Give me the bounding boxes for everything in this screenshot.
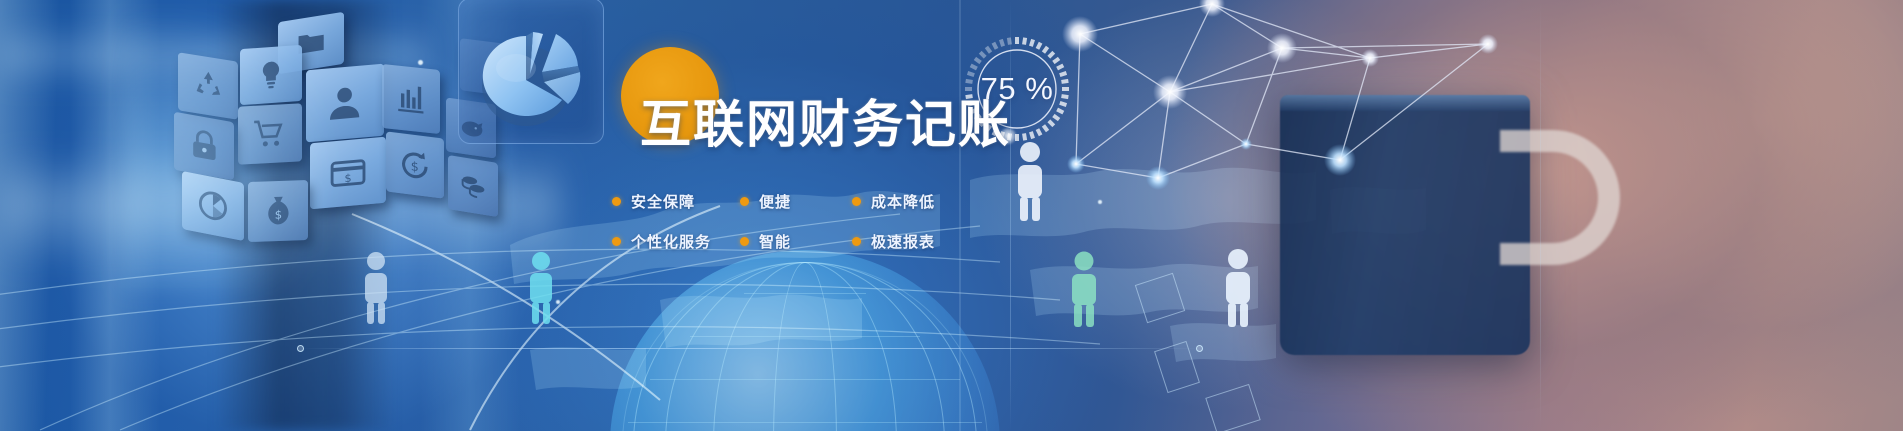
mug-handle (1500, 130, 1620, 265)
shopping-cart-icon (238, 103, 302, 164)
vertical-divider (1540, 0, 1541, 431)
bar-chart-icon (382, 64, 440, 134)
person-icon (306, 64, 384, 143)
bullet-dot-icon (612, 237, 621, 246)
feature-item-cost-reduction: 成本降低 (852, 191, 935, 212)
vertical-divider (1010, 0, 1011, 431)
feature-item-personalized-service: 个性化服务 (612, 231, 740, 252)
lightbulb-icon (240, 45, 302, 105)
coins-icon (448, 155, 498, 217)
feature-item-intelligent: 智能 (740, 231, 852, 252)
bullet-dot-icon (740, 237, 749, 246)
feature-label: 安全保障 (631, 191, 695, 212)
svg-text:$: $ (274, 207, 281, 221)
bullet-dot-icon (852, 237, 861, 246)
feature-label: 便捷 (759, 191, 791, 212)
feature-row-2: 个性化服务 智能 极速报表 (612, 221, 1002, 261)
refresh-dollar-icon: $ (386, 131, 444, 198)
bullet-dot-icon (612, 197, 621, 206)
bullet-dot-icon (740, 197, 749, 206)
feature-item-security: 安全保障 (612, 191, 740, 212)
svg-text:$: $ (344, 171, 351, 185)
pie-chart-graphic (470, 8, 598, 136)
svg-text:$: $ (411, 158, 419, 174)
person-silhouette (1010, 140, 1050, 222)
network-node-graph (1040, 0, 1510, 202)
feature-label: 极速报表 (871, 231, 935, 252)
marketing-banner: $ $ $ (0, 0, 1903, 431)
divider-node-icon (297, 345, 304, 352)
feature-label: 个性化服务 (631, 231, 711, 252)
feature-label: 成本降低 (871, 191, 935, 212)
person-silhouette (523, 250, 559, 325)
bullet-dot-icon (852, 197, 861, 206)
sparkle-icon (1098, 200, 1102, 204)
feature-item-fast-reports: 极速报表 (852, 231, 935, 252)
feature-row-1: 安全保障 便捷 成本降低 (612, 181, 1002, 221)
money-bag-icon: $ (248, 180, 308, 242)
person-silhouette (1218, 248, 1258, 328)
recycle-icon (178, 52, 238, 120)
sparkle-icon (418, 60, 423, 65)
pie-chart-icon (182, 171, 244, 241)
page-title: 互联网财务记账 (640, 100, 1011, 151)
sparkle-icon (556, 300, 560, 304)
divider-node-icon (1196, 345, 1203, 352)
credit-card-icon: $ (310, 137, 386, 210)
lock-icon (174, 112, 234, 181)
person-silhouette (1065, 250, 1103, 328)
feature-item-convenient: 便捷 (740, 191, 852, 212)
feature-label: 智能 (759, 231, 791, 252)
feature-list: 安全保障 便捷 成本降低 个性化服务 智能 极速报表 (612, 181, 1002, 261)
person-silhouette (358, 250, 394, 325)
app-icon-cube-stack: $ $ $ (160, 5, 480, 265)
horizontal-divider (300, 348, 1200, 349)
